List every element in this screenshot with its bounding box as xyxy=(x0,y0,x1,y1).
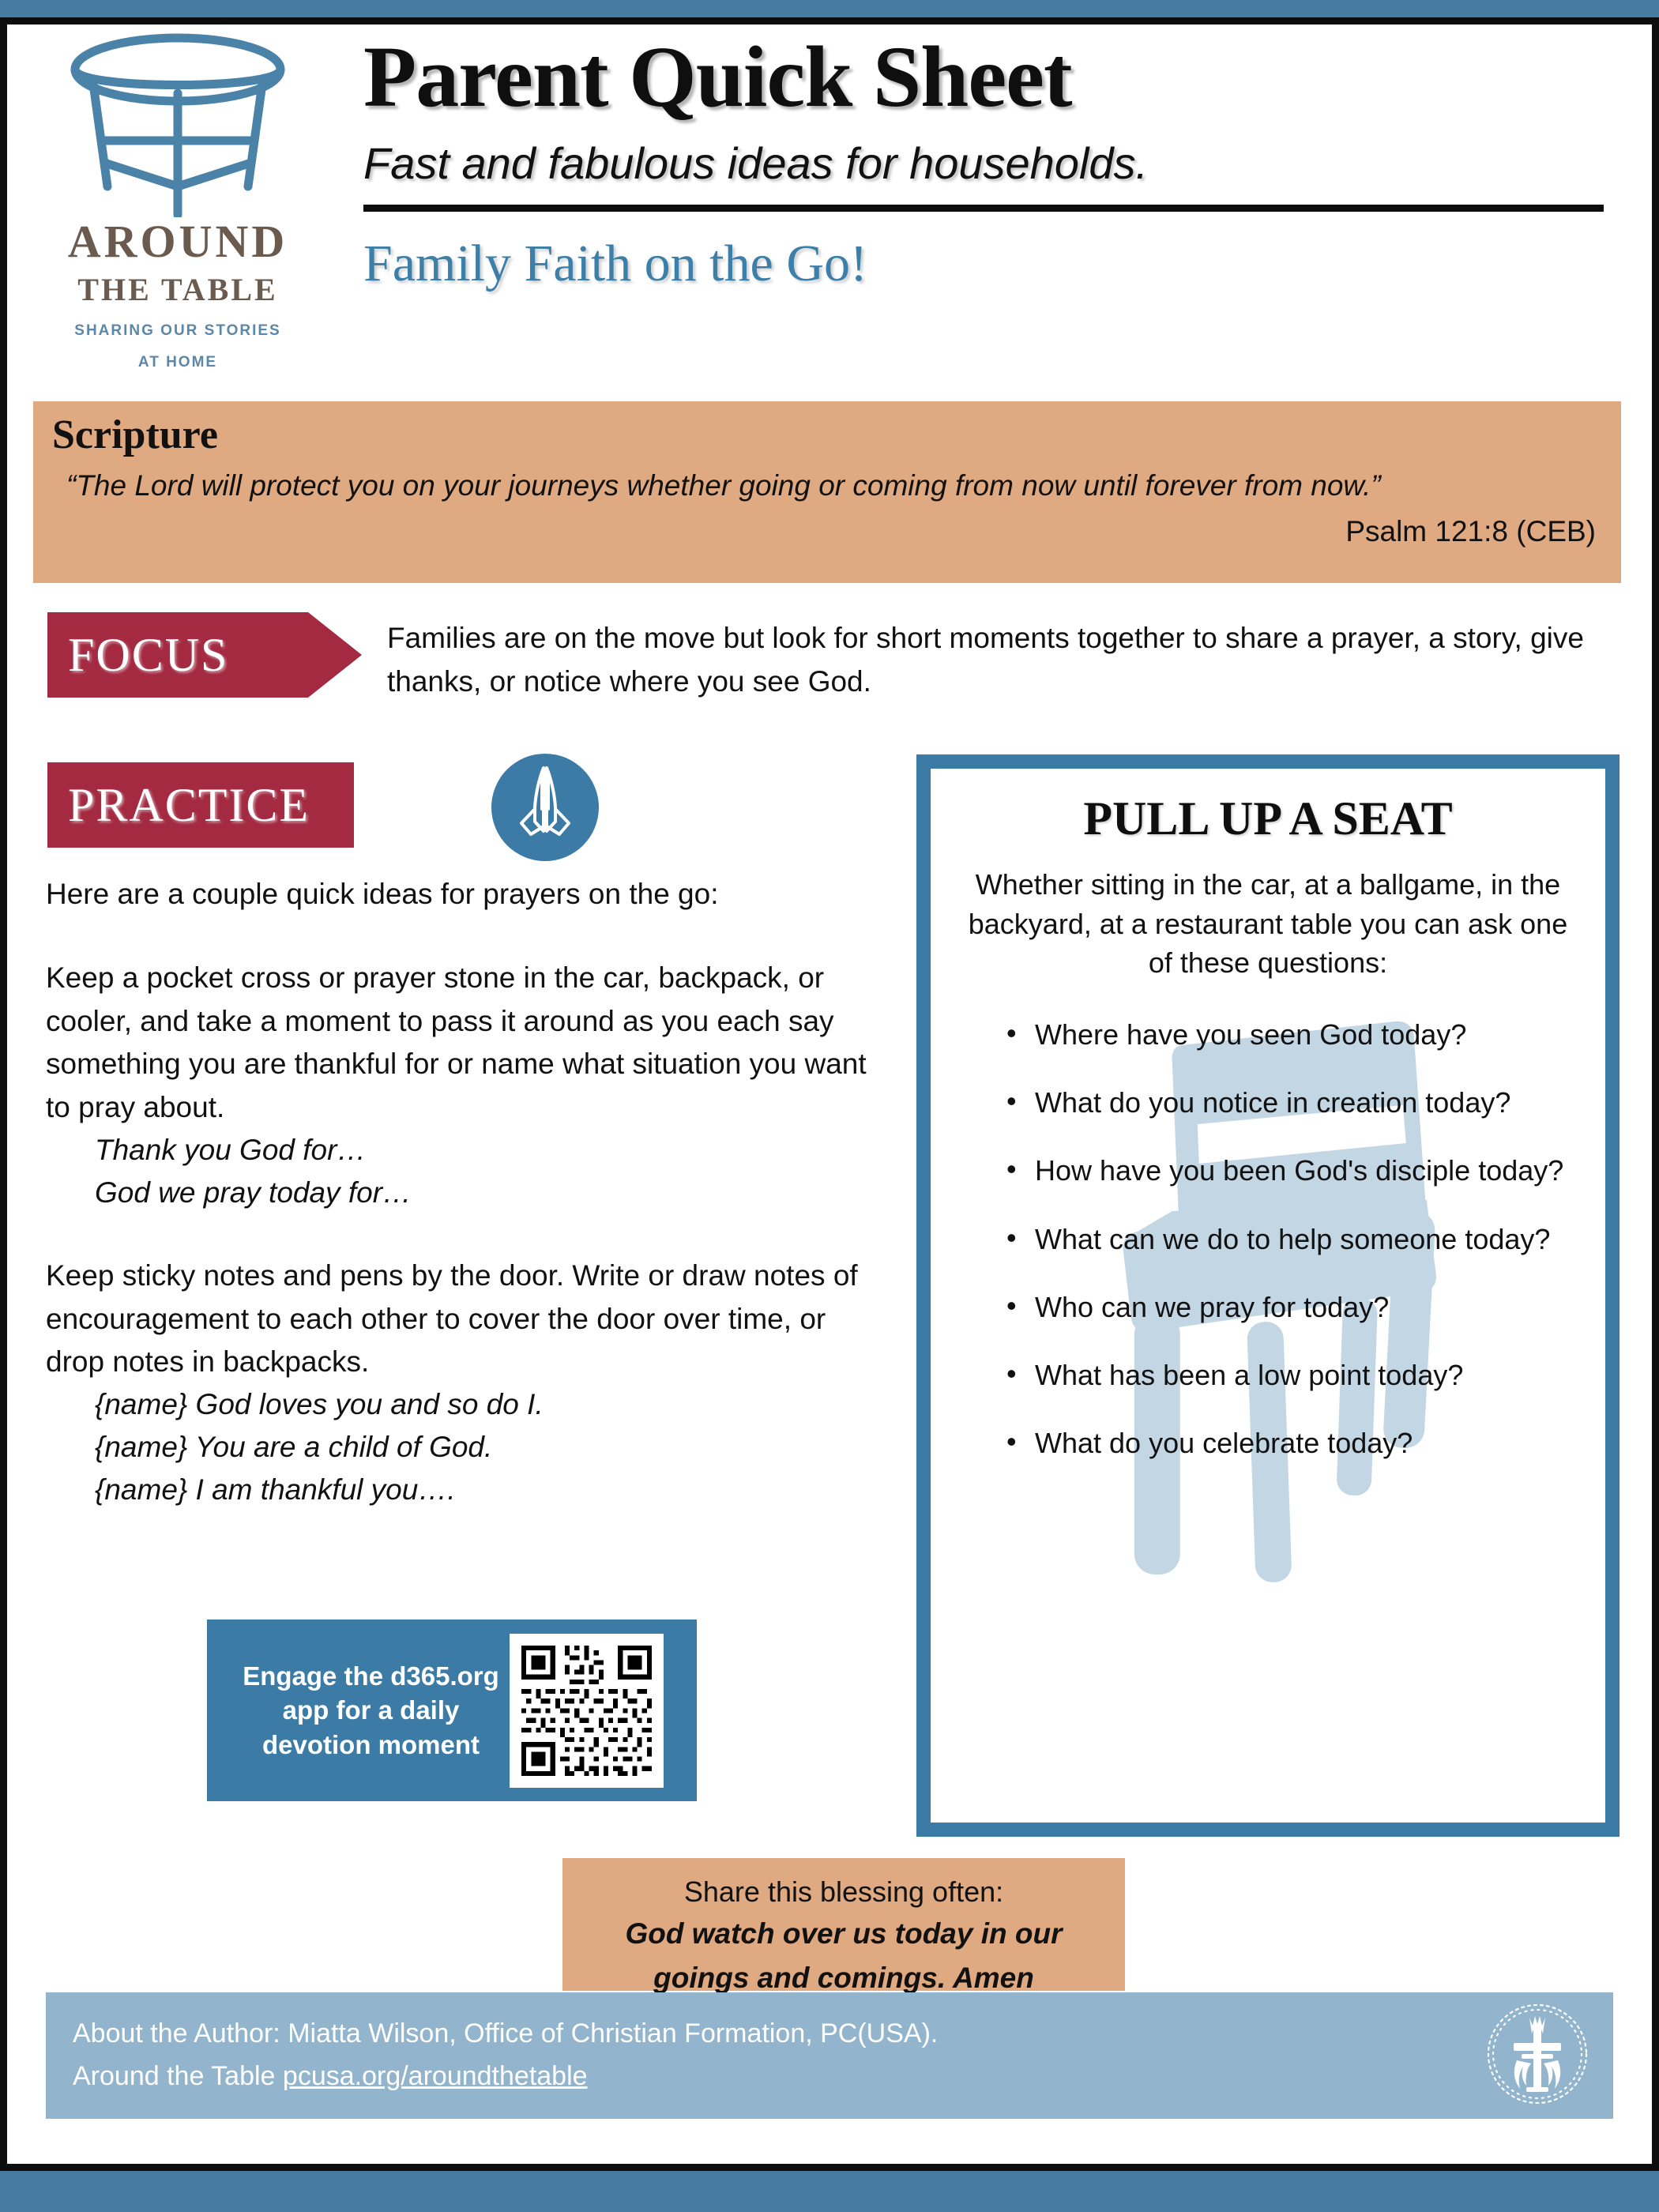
footer-website-link[interactable]: pcusa.org/aroundthetable xyxy=(283,2061,588,2091)
logo-name-line1: AROUND xyxy=(47,219,308,265)
list-item: What has been a low point today? xyxy=(1003,1356,1585,1394)
bottom-blue-band xyxy=(0,2171,1659,2212)
list-item: What do you celebrate today? xyxy=(1003,1424,1585,1462)
practice-body: Here are a couple quick ideas for prayer… xyxy=(46,873,867,1510)
pcusa-seal-icon xyxy=(1482,1999,1593,2109)
title-divider xyxy=(363,205,1604,212)
title-block: Parent Quick Sheet Fast and fabulous ide… xyxy=(363,32,1627,293)
page-kicker: Family Faith on the Go! xyxy=(363,235,1627,293)
right-black-edge xyxy=(1652,17,1659,2171)
list-item: What can we do to help someone today? xyxy=(1003,1221,1585,1258)
blessing-lead: Share this blessing often: xyxy=(562,1874,1125,1909)
practice-idea-2-prompt-2: {name} You are a child of God. xyxy=(46,1426,867,1469)
footer-author: About the Author: Miatta Wilson, Office … xyxy=(73,2013,1586,2056)
list-item: Where have you seen God today? xyxy=(1003,1016,1585,1054)
practice-idea-2: Keep sticky notes and pens by the door. … xyxy=(46,1255,867,1383)
d365-app-promo[interactable]: Engage the d365.org app for a daily devo… xyxy=(207,1619,697,1801)
pull-up-a-seat-panel: PULL UP A SEAT Whether sitting in the ca… xyxy=(916,754,1619,1837)
qr-code-icon[interactable] xyxy=(510,1634,664,1788)
parent-quick-sheet-page: AROUND THE TABLE SHARING OUR STORIES AT … xyxy=(0,0,1659,2212)
list-item: What do you notice in creation today? xyxy=(1003,1084,1585,1122)
focus-text: Families are on the move but look for sh… xyxy=(387,612,1612,704)
scripture-verse: “The Lord will protect you on your journ… xyxy=(52,468,1602,503)
focus-tag-banner: FOCUS xyxy=(47,612,308,698)
page-header: AROUND THE TABLE SHARING OUR STORIES AT … xyxy=(32,32,1627,387)
focus-section: FOCUS Families are on the move but look … xyxy=(47,612,1612,704)
practice-idea-2-prompt-1: {name} God loves you and so do I. xyxy=(46,1383,867,1426)
blessing-panel: Share this blessing often: God watch ove… xyxy=(562,1858,1125,1991)
practice-tag-banner: PRACTICE xyxy=(47,762,354,848)
seat-question-list: Where have you seen God today? What do y… xyxy=(951,1016,1585,1463)
brand-logo: AROUND THE TABLE SHARING OUR STORIES AT … xyxy=(47,32,308,379)
footer-program: Around the Table pcusa.org/aroundthetabl… xyxy=(73,2056,1586,2098)
focus-tag-label: FOCUS xyxy=(47,629,228,681)
page-subtitle: Fast and fabulous ideas for households. xyxy=(363,139,1627,188)
scripture-heading: Scripture xyxy=(52,412,1602,457)
blessing-prayer-line1: God watch over us today in our xyxy=(562,1914,1125,1954)
top-black-rule xyxy=(0,17,1659,24)
scripture-reference: Psalm 121:8 (CEB) xyxy=(52,515,1602,548)
seat-panel-lead: Whether sitting in the car, at a ballgam… xyxy=(951,865,1585,983)
practice-idea-1-prompt-2: God we pray today for… xyxy=(46,1172,867,1214)
logo-name-line2: THE TABLE xyxy=(47,269,308,310)
list-item: How have you been God's disciple today? xyxy=(1003,1152,1585,1190)
praying-hands-icon xyxy=(490,752,600,863)
top-blue-band xyxy=(0,0,1659,17)
left-black-edge xyxy=(0,17,7,2171)
focus-tag-arrow-icon xyxy=(308,612,362,698)
footer-program-label: Around the Table xyxy=(73,2061,283,2091)
bottom-black-rule xyxy=(0,2164,1659,2171)
logo-tagline-line1: SHARING OUR STORIES xyxy=(47,320,308,342)
scripture-panel: Scripture “The Lord will protect you on … xyxy=(33,401,1621,583)
practice-intro: Here are a couple quick ideas for prayer… xyxy=(46,873,867,916)
paragraph-spacer xyxy=(46,1213,867,1255)
logo-tagline-line2: AT HOME xyxy=(47,352,308,374)
practice-idea-1-prompt-1: Thank you God for… xyxy=(46,1129,867,1172)
practice-idea-1: Keep a pocket cross or prayer stone in t… xyxy=(46,957,867,1129)
list-item: Who can we pray for today? xyxy=(1003,1288,1585,1326)
seat-panel-title: PULL UP A SEAT xyxy=(951,792,1585,845)
qr-promo-text: Engage the d365.org app for a daily devo… xyxy=(241,1659,502,1762)
page-footer: About the Author: Miatta Wilson, Office … xyxy=(46,1992,1613,2119)
practice-tag-label: PRACTICE xyxy=(47,779,310,831)
practice-idea-2-prompt-3: {name} I am thankful you…. xyxy=(46,1469,867,1511)
round-table-icon xyxy=(63,32,292,217)
page-title: Parent Quick Sheet xyxy=(363,32,1627,123)
